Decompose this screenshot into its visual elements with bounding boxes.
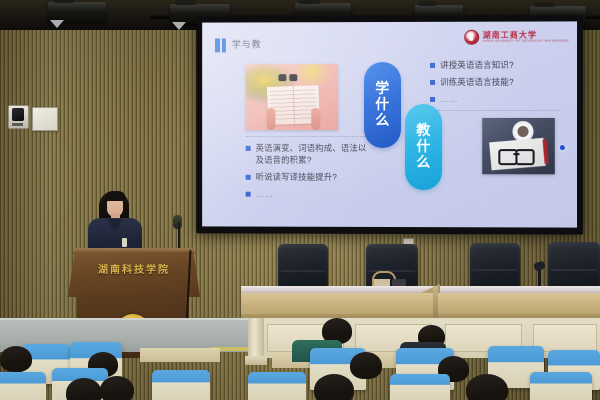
projected-slide: 学与教 湖南工商大学 HUNAN UNIVERSITY OF TECHNOLOG… (202, 21, 577, 227)
audience-head (0, 346, 32, 372)
bullet-text: 英语演变、词语构成、语法以及语音的积累? (256, 143, 373, 167)
pill-char-2: 什 (375, 97, 389, 113)
audience-head (350, 352, 382, 379)
bullet-square-icon (246, 146, 251, 151)
list-item: 英语演变、词语构成、语法以及语音的积累? (246, 143, 373, 167)
auditorium-seat (152, 370, 210, 400)
stage-light-icon (48, 2, 106, 22)
camera-led (12, 123, 23, 126)
open-book-flowers-photo (246, 64, 338, 130)
list-item: …… (246, 188, 373, 200)
auditorium-seat (530, 372, 592, 400)
wall-control-panel (32, 107, 58, 131)
pill-jiao-shenme: 教 什 么 (405, 104, 442, 190)
camera-lens (12, 108, 24, 121)
auditorium-seat (0, 372, 46, 400)
pill-char-3: 么 (416, 155, 431, 171)
auditorium-seat (248, 372, 306, 400)
slide-title: 学与教 (232, 37, 262, 50)
audience-head (314, 374, 354, 400)
bullet-square-icon (430, 97, 435, 102)
stage-chair (470, 243, 520, 290)
university-seal-icon (464, 30, 479, 45)
list-item: 训练英语语言技能? (430, 77, 561, 89)
hand-shape (267, 108, 276, 130)
hand-shape (311, 108, 320, 130)
bullet-square-icon (430, 63, 435, 68)
auditorium-seat (390, 374, 450, 400)
hall-pillar-base (245, 356, 267, 365)
speaker-fringe (105, 191, 126, 201)
bullet-text: …… (440, 94, 459, 105)
pill-char-3: 么 (375, 113, 389, 129)
audience-desk (140, 348, 220, 362)
bullet-square-icon (246, 175, 251, 180)
bullet-text: 讲授英语语言知识? (440, 60, 514, 72)
stage-chair (278, 244, 328, 290)
laser-pointer-dot (560, 145, 565, 150)
projection-screen-frame: 学与教 湖南工商大学 HUNAN UNIVERSITY OF TECHNOLOG… (196, 15, 583, 234)
university-logo: 湖南工商大学 HUNAN UNIVERSITY OF TECHNOLOGY AN… (464, 29, 568, 44)
speaker-badge (122, 238, 127, 247)
book-text-lines (270, 89, 317, 121)
security-camera-icon (8, 105, 29, 129)
stage-chair (548, 242, 600, 290)
right-bullet-list: 讲授英语语言知识? 训练英语语言技能? …… (430, 60, 561, 111)
left-bullet-list: 英语演变、词语构成、语法以及语音的积累? 听说读写译技能提升? …… (246, 143, 373, 205)
list-item: …… (430, 94, 561, 106)
eyeglasses-icon (498, 149, 534, 162)
pill-char-1: 教 (416, 123, 431, 139)
university-name-cn: 湖南工商大学 (483, 31, 569, 39)
audience-head (66, 378, 102, 400)
left-dotted-divider (246, 136, 365, 137)
bullet-square-icon (246, 191, 251, 196)
bullet-text: …… (256, 189, 275, 200)
podium-institution-text: 湖南科技学院 (68, 261, 200, 276)
list-item: 听说读写译技能提升? (246, 172, 373, 184)
bullet-text: 听说读写译技能提升? (256, 172, 338, 184)
slide-title-marker (215, 38, 226, 52)
pill-xue-shenme: 学 什 么 (364, 62, 401, 148)
list-item: 讲授英语语言知识? (430, 60, 561, 72)
glasses-book-coffee-photo (482, 118, 555, 174)
audience-head (100, 376, 134, 400)
podium-microphone-stand (178, 222, 180, 250)
sunglasses-icon (278, 74, 298, 81)
pill-char-1: 学 (375, 81, 389, 97)
bullet-square-icon (430, 80, 435, 85)
university-name-en: HUNAN UNIVERSITY OF TECHNOLOGY AND BUSIN… (483, 40, 569, 43)
lecture-hall-photo: 学与教 湖南工商大学 HUNAN UNIVERSITY OF TECHNOLOG… (0, 0, 600, 400)
bullet-text: 训练英语语言技能? (440, 77, 514, 89)
audience-head (466, 374, 508, 400)
podium-front: 湖南科技学院 (68, 252, 200, 297)
pill-char-2: 什 (416, 139, 431, 155)
